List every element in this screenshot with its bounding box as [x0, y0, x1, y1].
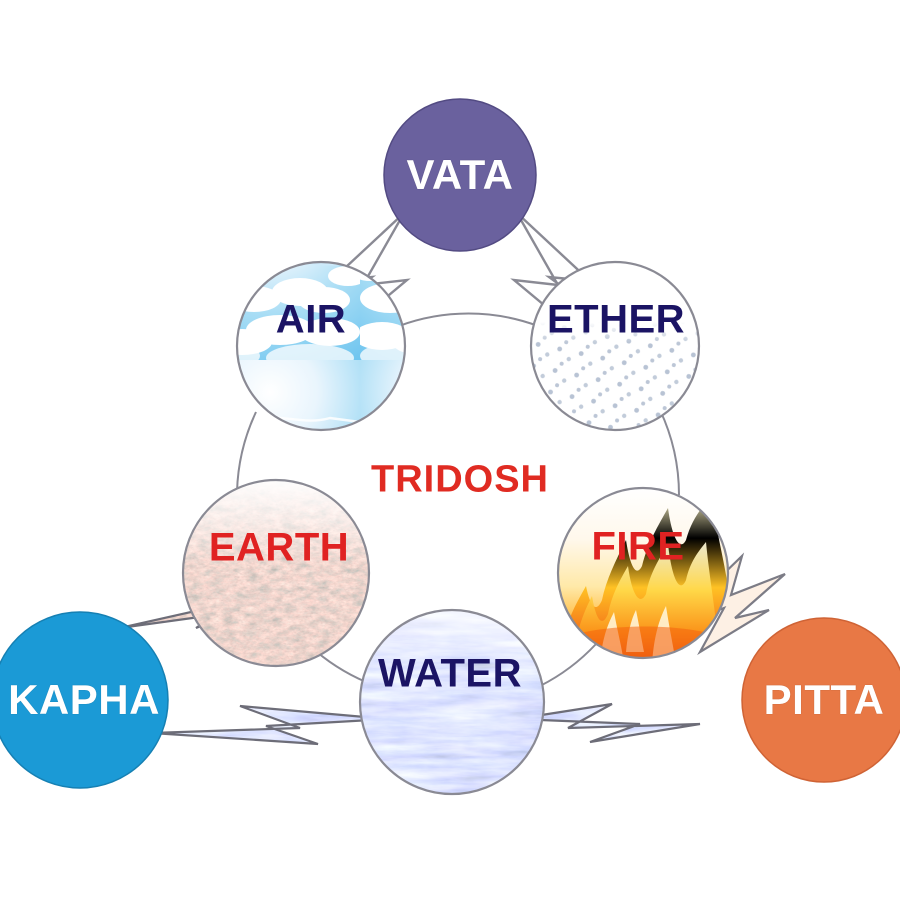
- diagram-svg: [0, 0, 900, 900]
- tridosh-diagram-canvas: VATA KAPHA PITTA AIR ETHER EARTH FIRE WA…: [0, 0, 900, 900]
- element-circle-fire[interactable]: [558, 488, 730, 664]
- element-circle-ether[interactable]: [528, 262, 704, 438]
- dosha-circle-pitta[interactable]: [742, 618, 900, 782]
- element-circle-earth[interactable]: [183, 480, 369, 666]
- element-circle-air[interactable]: [237, 262, 405, 430]
- dosha-circle-vata[interactable]: [384, 99, 536, 251]
- dosha-circle-kapha[interactable]: [0, 612, 168, 788]
- element-circle-water[interactable]: [360, 610, 544, 794]
